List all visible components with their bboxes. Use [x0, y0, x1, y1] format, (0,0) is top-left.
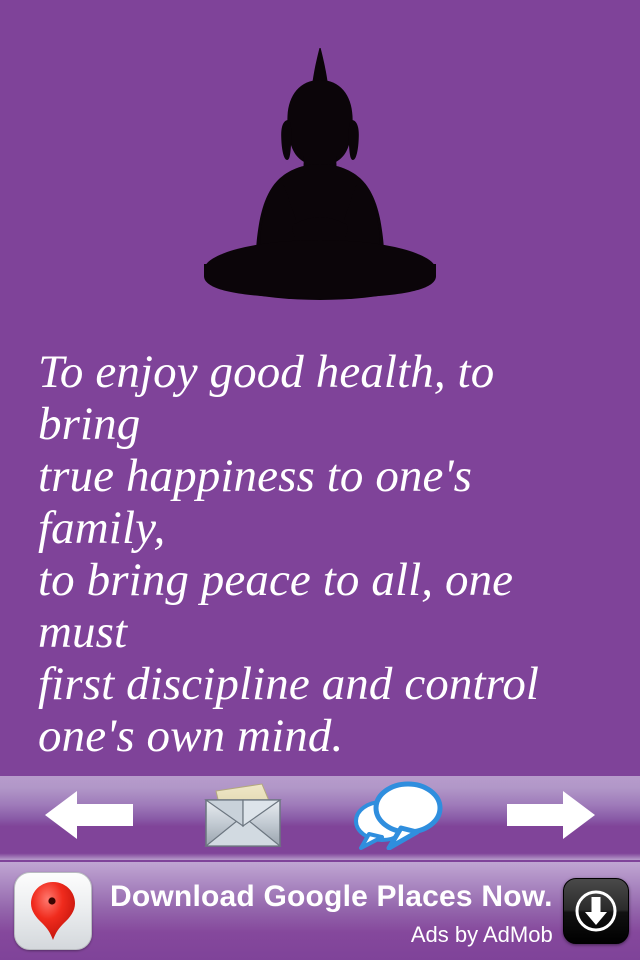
arrow-right-icon	[507, 789, 595, 841]
next-quote-button[interactable]	[491, 779, 611, 851]
ad-download-button[interactable]	[563, 878, 629, 944]
ad-text-column: Download Google Places Now. Ads by AdMob	[92, 872, 563, 950]
quote-text: To enjoy good health, to bring true happ…	[0, 346, 640, 762]
download-arrow-icon	[573, 888, 619, 934]
google-places-icon-tile	[14, 872, 92, 950]
quote-container: To enjoy good health, to bring true happ…	[0, 346, 640, 646]
comments-button[interactable]	[337, 779, 457, 851]
envelope-icon	[200, 782, 286, 848]
speech-bubbles-icon	[351, 780, 443, 850]
admob-ad-banner[interactable]: Download Google Places Now. Ads by AdMob	[0, 862, 640, 960]
email-share-button[interactable]	[183, 779, 303, 851]
hero-image-area	[0, 0, 640, 330]
buddha-silhouette-icon	[196, 48, 444, 300]
previous-quote-button[interactable]	[29, 779, 149, 851]
bottom-toolbar	[0, 776, 640, 860]
arrow-left-icon	[45, 789, 133, 841]
google-places-pin-icon	[24, 880, 82, 942]
quote-app-screen: To enjoy good health, to bring true happ…	[0, 0, 640, 960]
ad-attribution: Ads by AdMob	[110, 922, 553, 948]
ad-headline: Download Google Places Now.	[110, 880, 553, 914]
